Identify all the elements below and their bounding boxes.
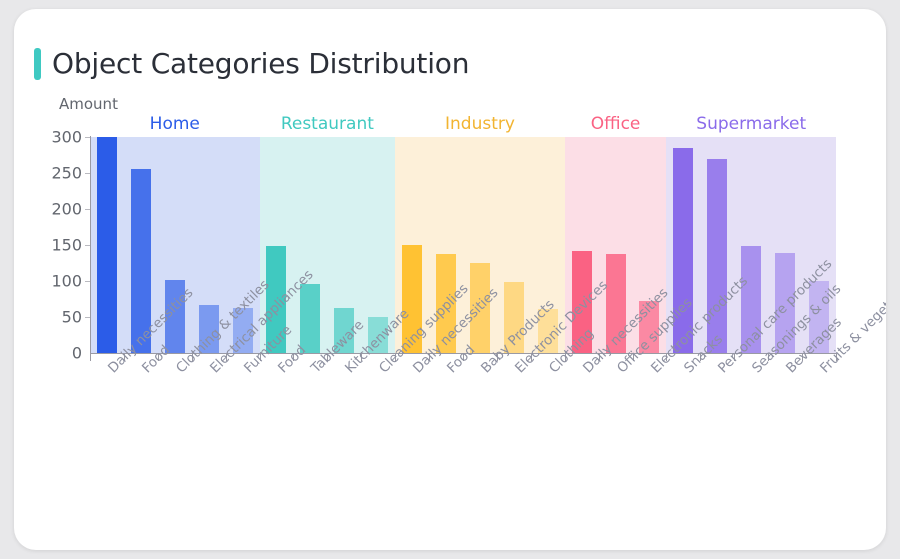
chart-title-row: Object Categories Distribution [34,47,469,80]
y-axis-line [90,136,91,354]
y-axis-tick-labels: 050100150200250300 [34,137,82,353]
y-tick-200: 200 [51,200,82,219]
bar[interactable] [97,137,117,353]
x-tick-mark [90,354,91,361]
chart-card: Object Categories Distribution Amount 05… [14,9,886,550]
group-label-office: Office [591,114,641,134]
y-tick-100: 100 [51,272,82,291]
group-label-home: Home [150,114,200,134]
page-title: Object Categories Distribution [52,47,469,80]
group-label-supermarket: Supermarket [696,114,806,134]
bar-slot[interactable] [293,137,327,353]
bar-slot[interactable] [90,137,124,353]
y-tick-0: 0 [72,344,82,363]
y-axis-title: Amount [59,95,118,113]
bar[interactable] [300,284,320,353]
group-label-industry: Industry [445,114,515,134]
y-tick-300: 300 [51,128,82,147]
title-accent-bar [34,48,41,80]
group-label-restaurant: Restaurant [281,114,374,134]
y-tick-150: 150 [51,236,82,255]
y-tick-250: 250 [51,164,82,183]
y-tick-50: 50 [62,308,82,327]
